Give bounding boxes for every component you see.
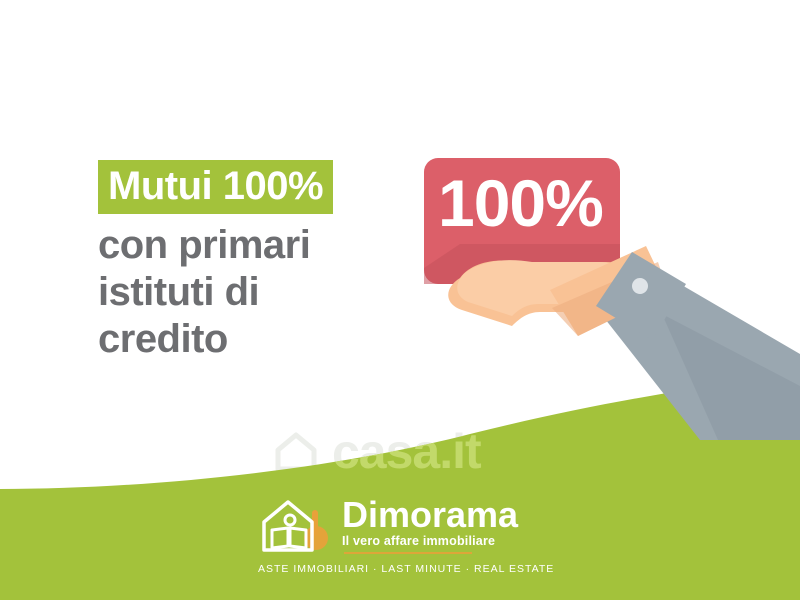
headline-highlight: Mutui 100% xyxy=(98,160,333,214)
headline-highlight-row: Mutui 100% xyxy=(98,160,428,214)
sleeve-button xyxy=(632,278,648,294)
logo-subline: ASTE IMMOBILIARI · LAST MINUTE · REAL ES… xyxy=(258,563,520,575)
logo-inner-circle xyxy=(285,515,295,525)
headline-body: con primari istituti di credito xyxy=(98,222,428,364)
logo-row: Dimorama Il vero affare immobiliare xyxy=(258,494,520,556)
logo-right-page xyxy=(290,528,306,548)
promo-banner: casa.it casa.it Mutui 100% con primari i… xyxy=(0,0,800,600)
dimorama-house-mark xyxy=(258,494,336,556)
logo-wordmark: Dimorama Il vero affare immobiliare xyxy=(342,496,520,553)
logo-brand-name: Dimorama xyxy=(342,498,520,532)
logo-left-page xyxy=(272,528,288,548)
headline-line-3: credito xyxy=(98,316,428,363)
hand-holding-100-percent-card: 100% xyxy=(400,140,800,440)
illustration-svg xyxy=(400,140,800,440)
logo-divider-rule xyxy=(344,552,472,554)
logo-tagline: Il vero affare immobiliare xyxy=(342,534,520,548)
headline-block: Mutui 100% con primari istituti di credi… xyxy=(98,160,428,364)
headline-line-2: istituti di xyxy=(98,269,428,316)
dimorama-logo[interactable]: Dimorama Il vero affare immobiliare ASTE… xyxy=(258,494,520,586)
headline-line-1: con primari xyxy=(98,222,428,269)
